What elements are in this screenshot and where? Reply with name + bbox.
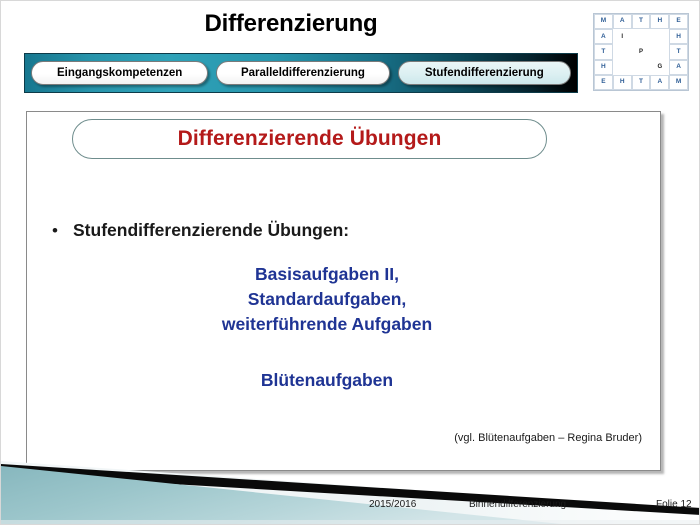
logo-cell-inner-i: I <box>613 29 632 44</box>
logo-cell-top-4: E <box>669 14 688 29</box>
logo-cell-left-1: T <box>594 44 613 59</box>
logo-cell-bottom-3: A <box>650 75 669 90</box>
logo-cell-right-0: H <box>669 29 688 44</box>
logo-cell-blank-r2c4 <box>650 29 669 44</box>
navigation-bar: Eingangskompetenzen Paralleldifferenzier… <box>24 53 578 93</box>
decoration-base-strip <box>1 520 700 524</box>
logo-cell-blank-r4c3 <box>632 60 651 75</box>
logo-cell-top-1: A <box>613 14 632 29</box>
section-title: Differenzierende Übungen <box>178 127 442 151</box>
logo-cell-right-1: T <box>669 44 688 59</box>
nav-item-stufendifferenzierung[interactable]: Stufendifferenzierung <box>398 61 571 85</box>
content-frame: Differenzierende Übungen • Stufendiffere… <box>26 111 661 471</box>
nav-item-label: Eingangskompetenzen <box>57 67 182 79</box>
highlight-text-group: Basisaufgaben II, Standardaufgaben, weit… <box>27 262 627 337</box>
logo-cell-bottom-4: M <box>669 75 688 90</box>
footer-slide-number: Folie 12 <box>656 499 692 510</box>
logo-cell-blank-r3c4 <box>650 44 669 59</box>
logo-cell-left-2: H <box>594 60 613 75</box>
nav-item-label: Stufendifferenzierung <box>425 67 544 79</box>
logo-cell-inner-p: P <box>632 44 651 59</box>
logo-cell-blank-r3c2 <box>613 44 632 59</box>
highlight-line-2: Standardaufgaben, <box>27 287 627 312</box>
highlight-line-4: Blütenaufgaben <box>27 368 627 393</box>
logo-cell-top-3: H <box>650 14 669 29</box>
mathe-logo-grid: M A T H E A I H T P T H G A E H T A M <box>593 13 689 91</box>
bullet-label: Stufendifferenzierende Übungen: <box>73 220 349 241</box>
footer-topic: Binnendifferenzierung <box>469 499 566 510</box>
source-reference: (vgl. Blütenaufgaben – Regina Bruder) <box>454 432 642 444</box>
page-title: Differenzierung <box>1 10 581 38</box>
section-title-box: Differenzierende Übungen <box>72 119 547 159</box>
bullet-item: • Stufendifferenzierende Übungen: <box>37 220 349 241</box>
logo-cell-bottom-1: H <box>613 75 632 90</box>
footer-year: 2015/2016 <box>369 499 416 510</box>
slide-canvas: Differenzierung M A T H E A I H T P T H … <box>0 0 700 525</box>
nav-item-eingangskompetenzen[interactable]: Eingangskompetenzen <box>31 61 208 85</box>
logo-cell-bottom-0: E <box>594 75 613 90</box>
highlight-line-1: Basisaufgaben II, <box>27 262 627 287</box>
logo-cell-blank-r2c3 <box>632 29 651 44</box>
nav-item-label: Paralleldifferenzierung <box>241 67 365 79</box>
logo-cell-top-0: M <box>594 14 613 29</box>
bullet-marker-icon: • <box>37 222 73 239</box>
logo-cell-blank-r4c2 <box>613 60 632 75</box>
logo-cell-top-2: T <box>632 14 651 29</box>
slide-footer: 2015/2016 Binnendifferenzierung Folie 12 <box>1 499 700 517</box>
nav-item-paralleldifferenzierung[interactable]: Paralleldifferenzierung <box>216 61 389 85</box>
logo-cell-right-2: A <box>669 60 688 75</box>
highlight-line-3: weiterführende Aufgaben <box>27 312 627 337</box>
highlight-text-extra: Blütenaufgaben <box>27 368 627 393</box>
logo-cell-inner-g: G <box>650 60 669 75</box>
logo-cell-left-0: A <box>594 29 613 44</box>
logo-cell-bottom-2: T <box>632 75 651 90</box>
